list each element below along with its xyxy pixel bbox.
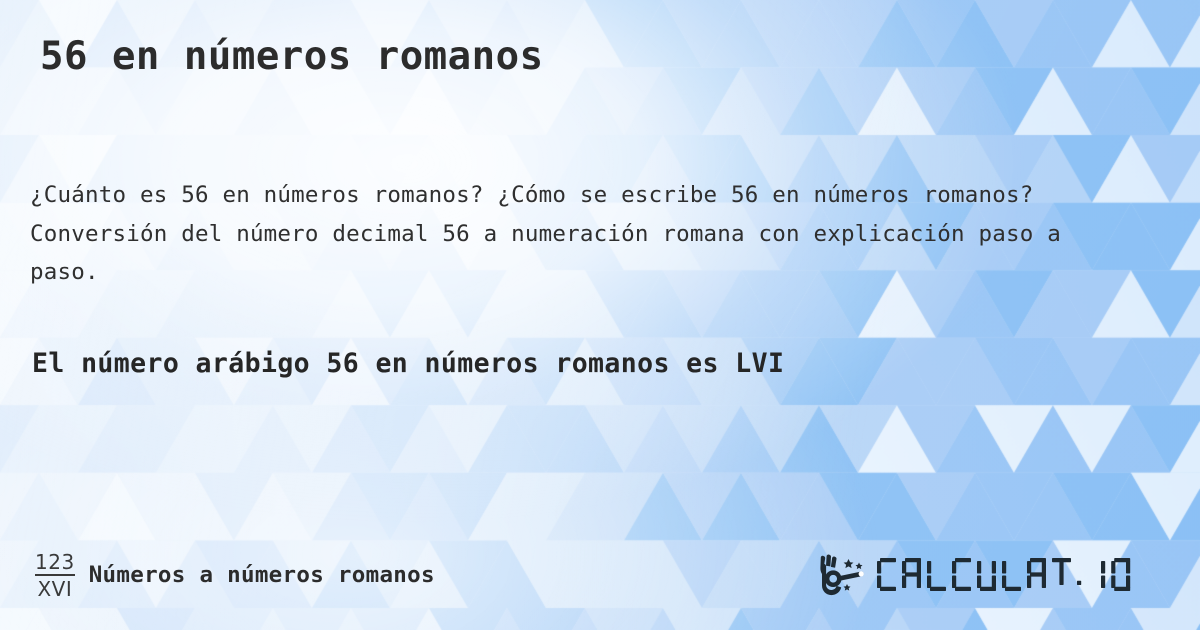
footer-bar: 123 XVI Números a números romanos [0,540,1200,610]
footer-brand-label: Números a números romanos [89,562,435,588]
numbers-to-roman-logo-icon: 123 XVI [35,552,75,599]
footer-site-logo[interactable]: CALCULAT.IO [817,552,1165,598]
page-content: 56 en números romanos ¿Cuánto es 56 en n… [0,0,1200,630]
intro-paragraph: ¿Cuánto es 56 en números romanos? ¿Cómo … [30,176,1140,292]
logo-denominator: XVI [37,576,72,599]
magic-wand-hand-icon [817,552,871,598]
calculatio-wordmark: CALCULAT.IO [875,552,1165,598]
logo-numerator: 123 [35,552,75,576]
footer-brand-left[interactable]: 123 XVI Números a números romanos [35,552,435,599]
page-title: 56 en números romanos [40,35,544,80]
answer-statement: El número arábigo 56 en números romanos … [32,348,1172,379]
